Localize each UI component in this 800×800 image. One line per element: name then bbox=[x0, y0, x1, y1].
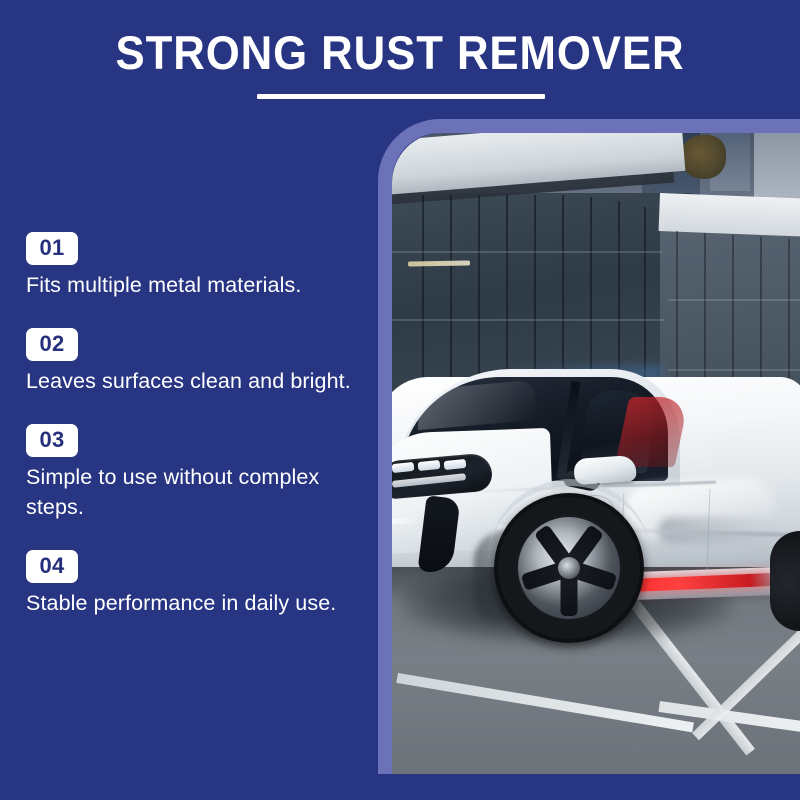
rear-wheel bbox=[770, 531, 800, 631]
feature-item-04: 04 Stable performance in daily use. bbox=[26, 550, 378, 618]
feature-number-badge: 01 bbox=[26, 232, 78, 265]
background-tree bbox=[680, 135, 726, 179]
wheel-hub-cap bbox=[558, 557, 580, 579]
car-illustration bbox=[392, 281, 800, 661]
feature-text: Fits multiple metal materials. bbox=[26, 270, 371, 300]
feature-item-02: 02 Leaves surfaces clean and bright. bbox=[26, 328, 378, 396]
header: STRONG RUST REMOVER bbox=[0, 0, 800, 119]
feature-item-03: 03 Simple to use without complex steps. bbox=[26, 424, 378, 522]
building-fascia bbox=[659, 193, 800, 237]
feature-text: Stable performance in daily use. bbox=[26, 588, 371, 618]
product-photo bbox=[392, 133, 800, 774]
facade-floor-line bbox=[392, 251, 662, 253]
feature-item-01: 01 Fits multiple metal materials. bbox=[26, 232, 378, 300]
feature-text: Leaves surfaces clean and bright. bbox=[26, 366, 371, 396]
feature-number-badge: 03 bbox=[26, 424, 78, 457]
feature-number-badge: 02 bbox=[26, 328, 78, 361]
page-title: STRONG RUST REMOVER bbox=[28, 25, 772, 81]
feature-text: Simple to use without complex steps. bbox=[26, 462, 371, 522]
title-divider bbox=[257, 94, 545, 99]
feature-list: 01 Fits multiple metal materials. 02 Lea… bbox=[26, 232, 378, 618]
product-photo-panel bbox=[378, 119, 800, 774]
feature-number-badge: 04 bbox=[26, 550, 78, 583]
poster-canvas: STRONG RUST REMOVER 01 Fits multiple met… bbox=[0, 0, 800, 800]
